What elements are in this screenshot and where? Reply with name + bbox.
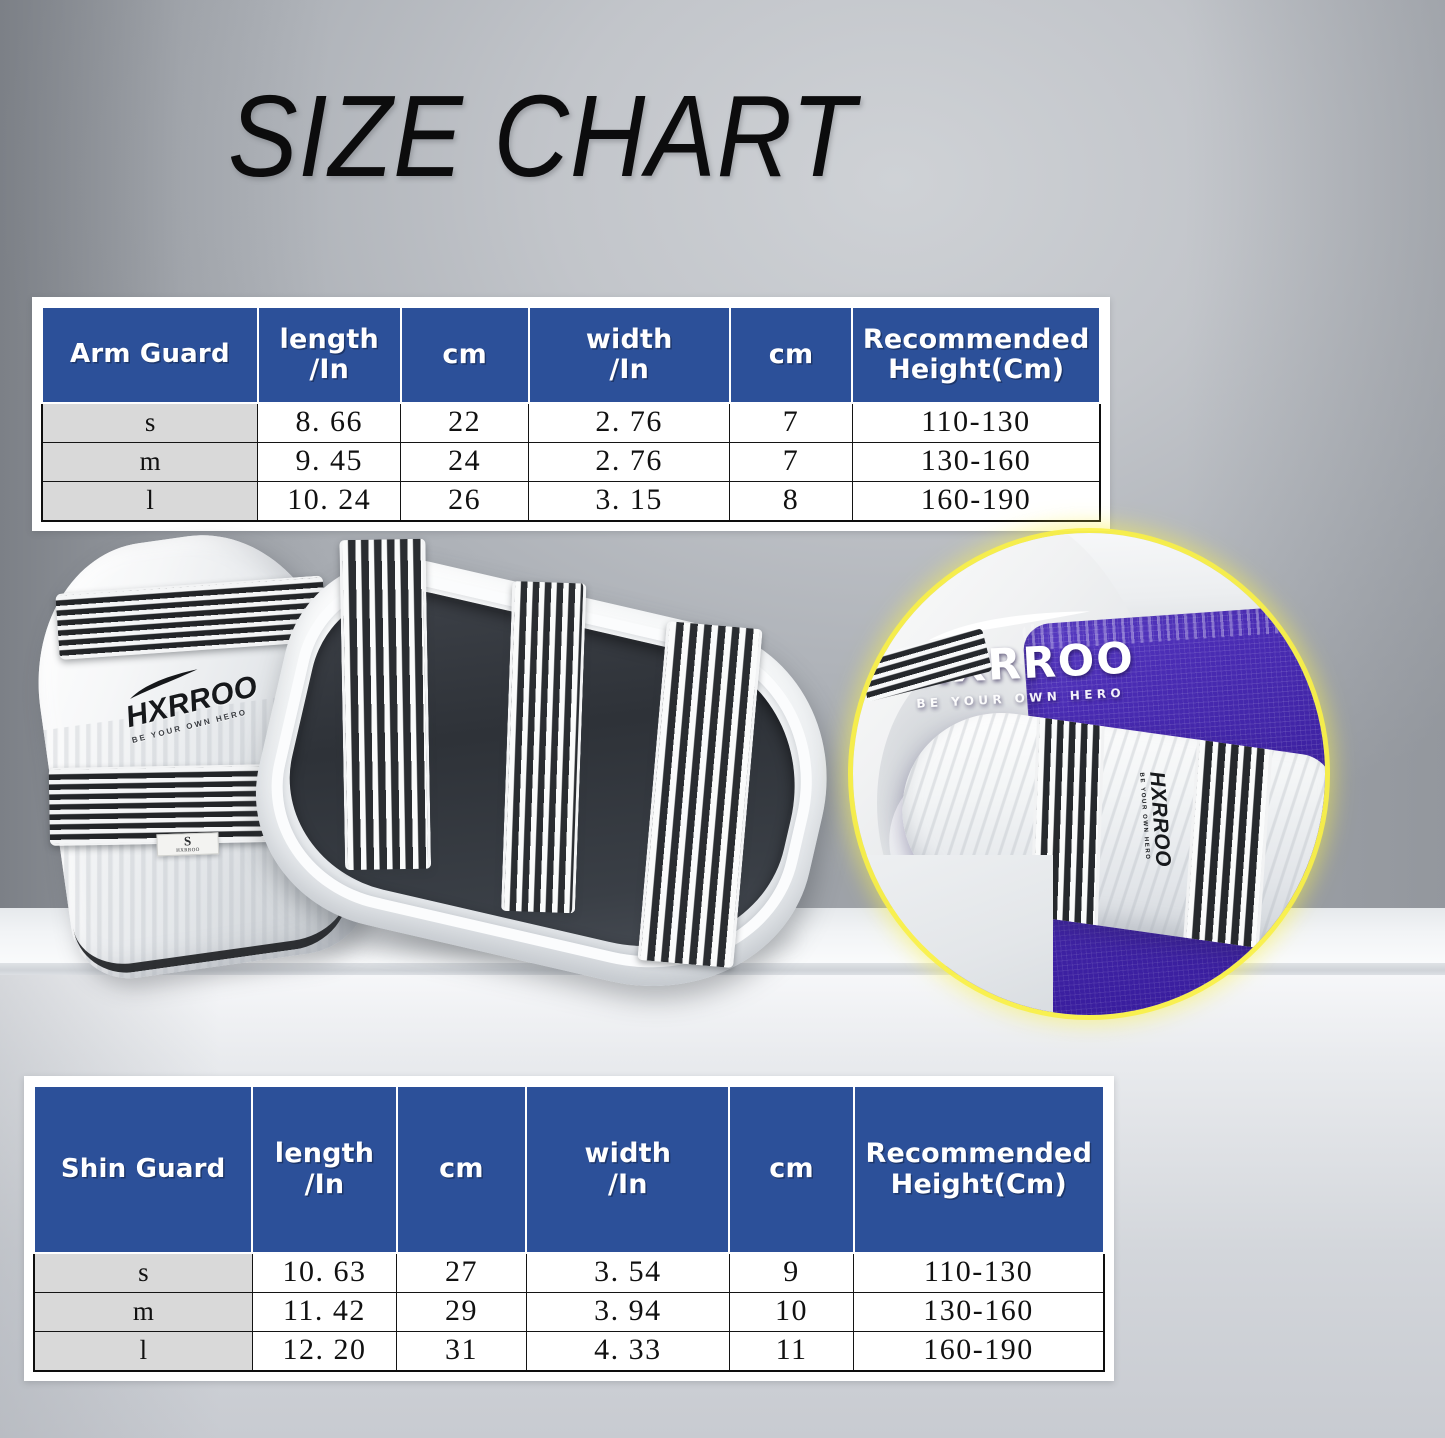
guard-front-strap-1 [339,539,431,870]
column-header-length-in: length /In [258,307,401,403]
circle-floor-area [853,855,1053,1015]
table-row: s 8. 66 22 2. 76 7 110-130 [42,403,1100,443]
table-row: m 9. 45 24 2. 76 7 130-160 [42,443,1100,482]
cell-width-cm: 7 [730,443,853,482]
cell-length-cm: 27 [397,1253,526,1293]
column-header-cm-length: cm [401,307,529,403]
table-row: m 11. 42 29 3. 94 10 130-160 [34,1293,1104,1332]
column-header-width-in: width /In [526,1086,729,1253]
cell-width-in: 2. 76 [529,443,730,482]
column-header-arm-guard: Arm Guard [42,307,258,403]
cell-width-in: 4. 33 [526,1332,729,1372]
column-header-width-line1: width [586,324,673,355]
cell-size: s [42,403,258,443]
cell-length-in: 11. 42 [252,1293,396,1332]
lifestyle-photo-circle: HXRROO BE YOUR OWN HERO HXRROO BE YOUR O… [853,533,1325,1015]
size-label-tag: S HXRROO [156,832,219,856]
column-header-recommended-line1: Recommended [865,1138,1092,1169]
cell-width-in: 3. 54 [526,1253,729,1293]
cell-length-in: 8. 66 [258,403,401,443]
product-photo-guards: HXRROO BE YOUR OWN HERO S HXRROO [28,515,838,985]
cell-width-cm: 7 [730,403,853,443]
cell-width-cm: 11 [729,1332,853,1372]
column-header-cm-length: cm [397,1086,526,1253]
column-header-length-line1: length [280,324,379,355]
column-header-cm-width: cm [730,307,853,403]
table-row: l 12. 20 31 4. 33 11 160-190 [34,1332,1104,1372]
cell-size: s [34,1253,252,1293]
table-row: s 10. 63 27 3. 54 9 110-130 [34,1253,1104,1293]
column-header-length-line2: /In [309,354,349,385]
column-header-length-line1: length [275,1138,374,1169]
arm-guard-size-table: Arm Guard length /In cm width /In cm Rec… [32,297,1110,531]
cell-length-cm: 29 [397,1293,526,1332]
cell-length-cm: 24 [401,443,529,482]
cell-size: m [42,443,258,482]
circle-photo-content: HXRROO BE YOUR OWN HERO HXRROO BE YOUR O… [853,533,1325,1015]
size-label-subtext: HXRROO [158,848,218,856]
shin-guard-size-table: Shin Guard length /In cm width /In cm Re… [24,1076,1114,1381]
column-header-shin-guard: Shin Guard [34,1086,252,1253]
cell-recommended-height: 110-130 [854,1253,1104,1293]
column-header-cm-width: cm [729,1086,853,1253]
column-header-recommended-height: Recommended Height(Cm) [852,307,1100,403]
cell-recommended-height: 130-160 [854,1293,1104,1332]
column-header-width-line2: /In [608,1169,648,1200]
column-header-recommended-height: Recommended Height(Cm) [854,1086,1104,1253]
cell-width-cm: 10 [729,1293,853,1332]
column-header-recommended-line2: Height(Cm) [891,1169,1067,1200]
cell-size: l [34,1332,252,1372]
cell-recommended-height: 160-190 [854,1332,1104,1372]
table-header-row: Arm Guard length /In cm width /In cm Rec… [42,307,1100,403]
cell-width-in: 3. 94 [526,1293,729,1332]
uniform-top-blob [1230,533,1325,585]
column-header-recommended-line2: Height(Cm) [888,354,1064,385]
table-header-row: Shin Guard length /In cm width /In cm Re… [34,1086,1104,1253]
cell-length-in: 10. 63 [252,1253,396,1293]
cell-length-cm: 31 [397,1332,526,1372]
cell-size: m [34,1293,252,1332]
cell-recommended-height: 160-190 [852,482,1100,522]
column-header-recommended-line1: Recommended [863,324,1090,355]
cell-length-cm: 22 [401,403,529,443]
cell-width-in: 2. 76 [529,403,730,443]
column-header-length-line2: /In [305,1169,345,1200]
column-header-width-in: width /In [529,307,730,403]
column-header-width-line1: width [584,1138,671,1169]
cell-length-in: 9. 45 [258,443,401,482]
cell-width-cm: 9 [729,1253,853,1293]
worn-arm-guard-strap-2 [1182,720,1275,956]
cell-recommended-height: 130-160 [852,443,1100,482]
cell-recommended-height: 110-130 [852,403,1100,443]
column-header-length-in: length /In [252,1086,396,1253]
guard-front-strap-2 [501,581,586,913]
column-header-width-line2: /In [609,354,649,385]
size-chart-page: SIZE CHART Arm Guard length /In cm width [0,0,1445,1438]
cell-length-in: 12. 20 [252,1332,396,1372]
page-title: SIZE CHART [228,78,856,194]
